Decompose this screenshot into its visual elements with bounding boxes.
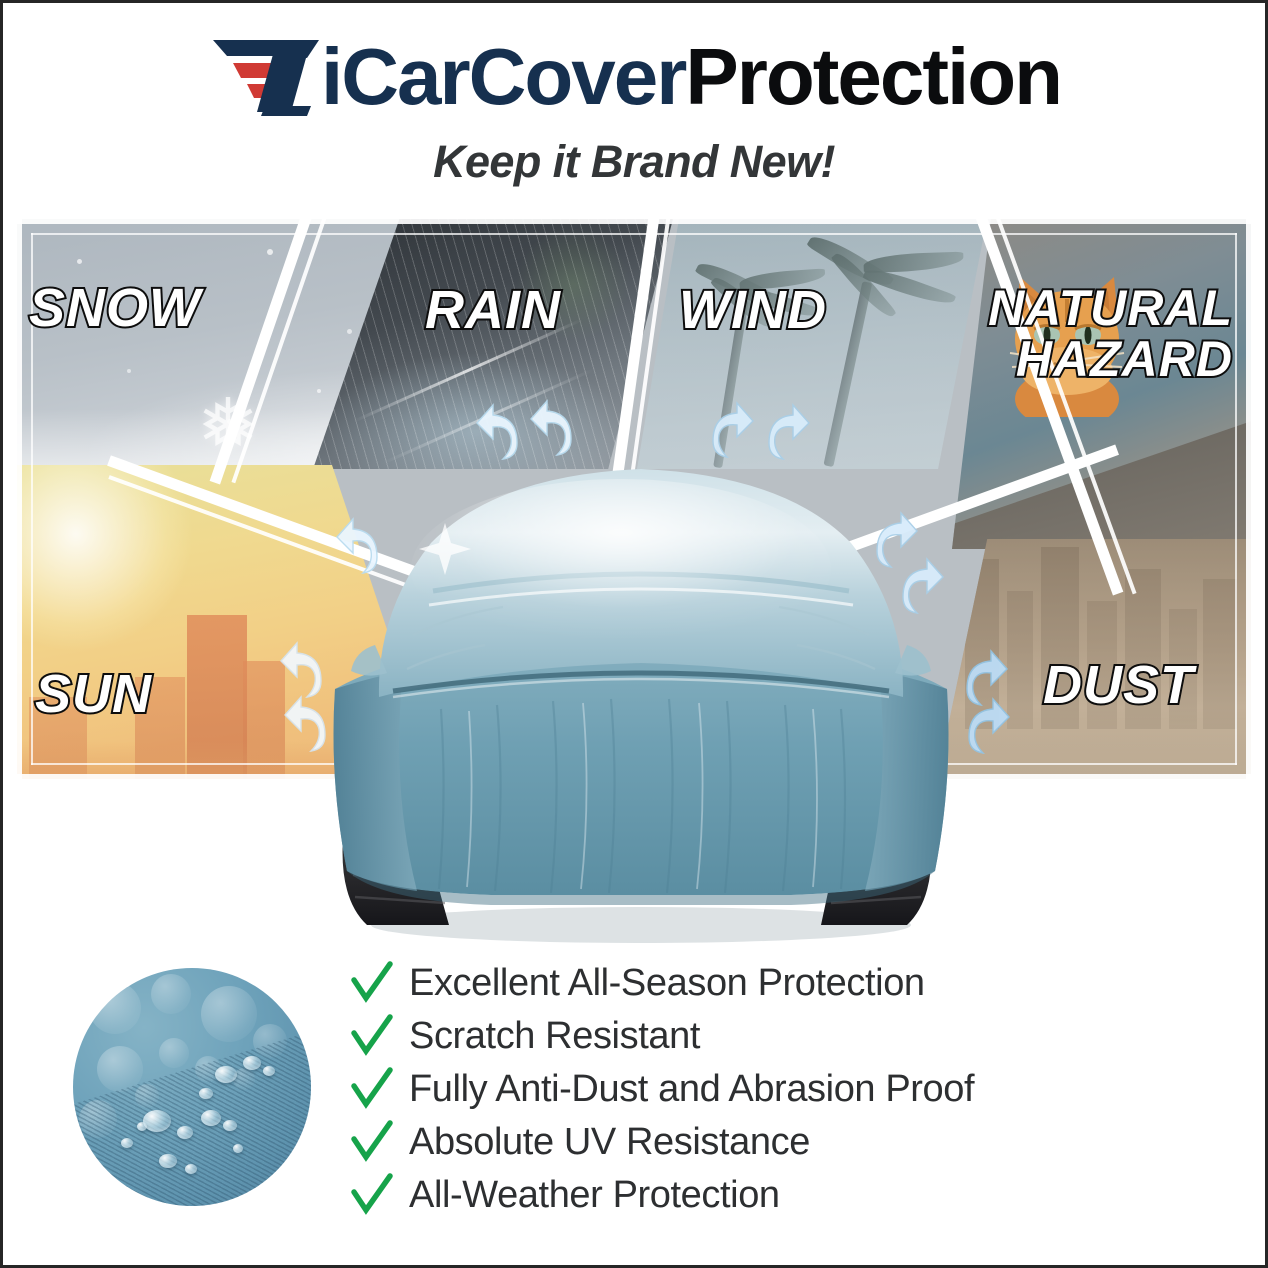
list-item: All-Weather Protection xyxy=(349,1168,1179,1221)
tagline: Keep it Brand New! xyxy=(3,136,1265,188)
list-item: Fully Anti-Dust and Abrasion Proof xyxy=(349,1062,1179,1115)
covered-car-icon xyxy=(321,439,961,949)
header: iCarCoverProtection Keep it Brand New! xyxy=(3,3,1265,203)
deflect-arrow-icon xyxy=(527,397,581,459)
brand-lockup: iCarCoverProtection xyxy=(3,27,1265,122)
green-check-icon xyxy=(349,1013,395,1059)
brand-suffix: Protection xyxy=(685,32,1061,121)
deflect-arrow-icon xyxy=(473,401,527,463)
page-title: iCarCoverProtection xyxy=(321,37,1061,117)
product-marketing-image: iCarCoverProtection Keep it Brand New! ❅ xyxy=(0,0,1268,1268)
green-check-icon xyxy=(349,960,395,1006)
deflect-arrow-icon xyxy=(959,695,1013,757)
green-check-icon xyxy=(349,1172,395,1218)
deflect-arrow-icon xyxy=(281,693,335,755)
panel-label-natural-hazard: NATURAL HAZARD xyxy=(953,283,1233,385)
deflect-arrow-icon xyxy=(333,515,387,577)
brand-name: iCarCover xyxy=(321,32,685,121)
panel-label-rain: RAIN xyxy=(425,283,561,338)
panel-label-dust: DUST xyxy=(1043,658,1194,713)
deflect-arrow-icon xyxy=(759,401,813,463)
feature-label: Excellent All-Season Protection xyxy=(409,964,925,1002)
list-item: Absolute UV Resistance xyxy=(349,1115,1179,1168)
feature-label: Fully Anti-Dust and Abrasion Proof xyxy=(409,1070,974,1108)
panel-label-sun: SUN xyxy=(35,667,152,722)
feature-label: Absolute UV Resistance xyxy=(409,1123,810,1161)
panel-label-wind: WIND xyxy=(679,283,827,338)
list-item: Scratch Resistant xyxy=(349,1009,1179,1062)
feature-label: Scratch Resistant xyxy=(409,1017,700,1055)
green-check-icon xyxy=(349,1119,395,1165)
deflect-arrow-icon xyxy=(277,639,331,701)
icarcover-wing-logo-icon xyxy=(207,34,319,116)
green-check-icon xyxy=(349,1066,395,1112)
list-item: Excellent All-Season Protection xyxy=(349,956,1179,1009)
panel-label-snow: SNOW xyxy=(29,281,201,336)
feature-label: All-Weather Protection xyxy=(409,1176,780,1214)
water-beading-fabric-icon xyxy=(60,955,324,1219)
feature-list: Excellent All-Season Protection Scratch … xyxy=(349,956,1179,1221)
deflect-arrow-icon xyxy=(703,399,757,461)
deflect-arrow-icon xyxy=(893,555,947,617)
